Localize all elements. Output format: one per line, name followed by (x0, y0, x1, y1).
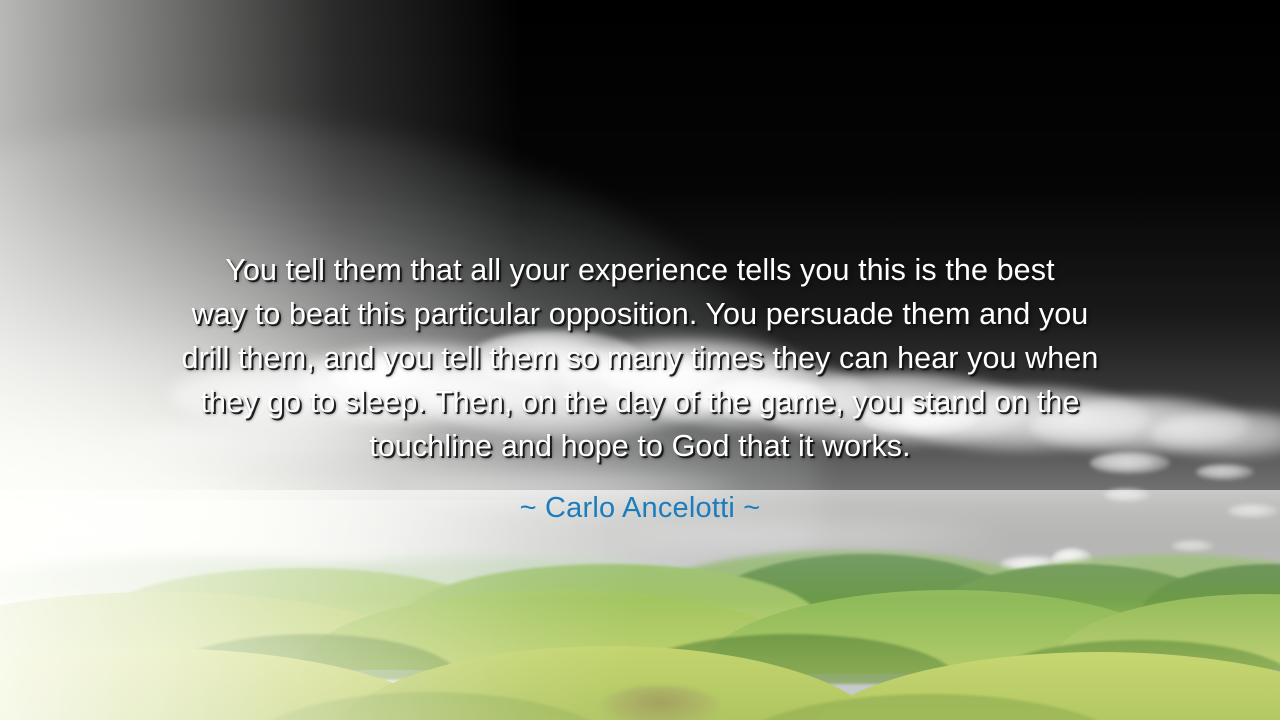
quote-attribution: ~ Carlo Ancelotti ~ (92, 490, 1188, 526)
quote-text: You tell them that all your experience t… (92, 248, 1188, 468)
quote-block: You tell them that all your experience t… (92, 248, 1188, 526)
quote-card: You tell them that all your experience t… (0, 0, 1280, 720)
dirt-path (600, 686, 720, 720)
landscape (0, 500, 1280, 720)
cloud (1196, 464, 1254, 480)
